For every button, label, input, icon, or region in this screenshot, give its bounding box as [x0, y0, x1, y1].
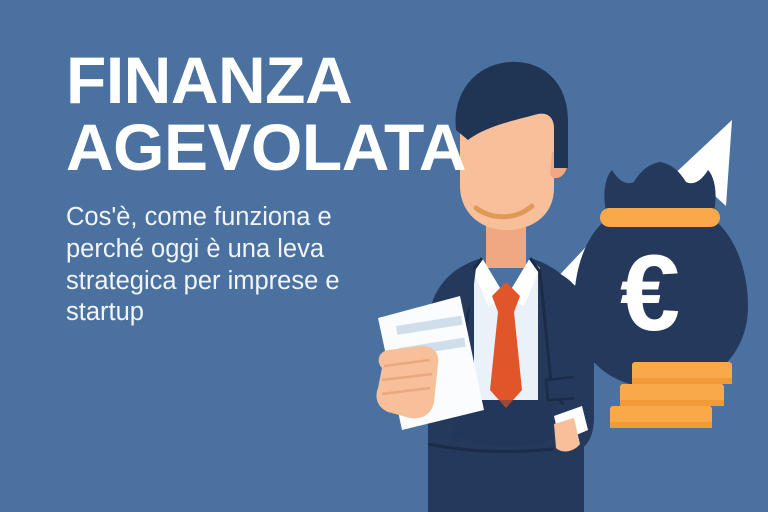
text-block: FINANZA AGEVOLATA Cos'è, come funziona e… — [66, 48, 496, 329]
subtitle-text: Cos'è, come funziona e perché oggi è una… — [66, 202, 396, 328]
finanza-agevolata-banner: € — [0, 0, 768, 512]
headline-line-1: FINANZA — [66, 48, 496, 113]
left-hand — [376, 346, 438, 418]
headline-line-2: AGEVOLATA — [66, 115, 496, 180]
euro-symbol: € — [620, 232, 680, 353]
